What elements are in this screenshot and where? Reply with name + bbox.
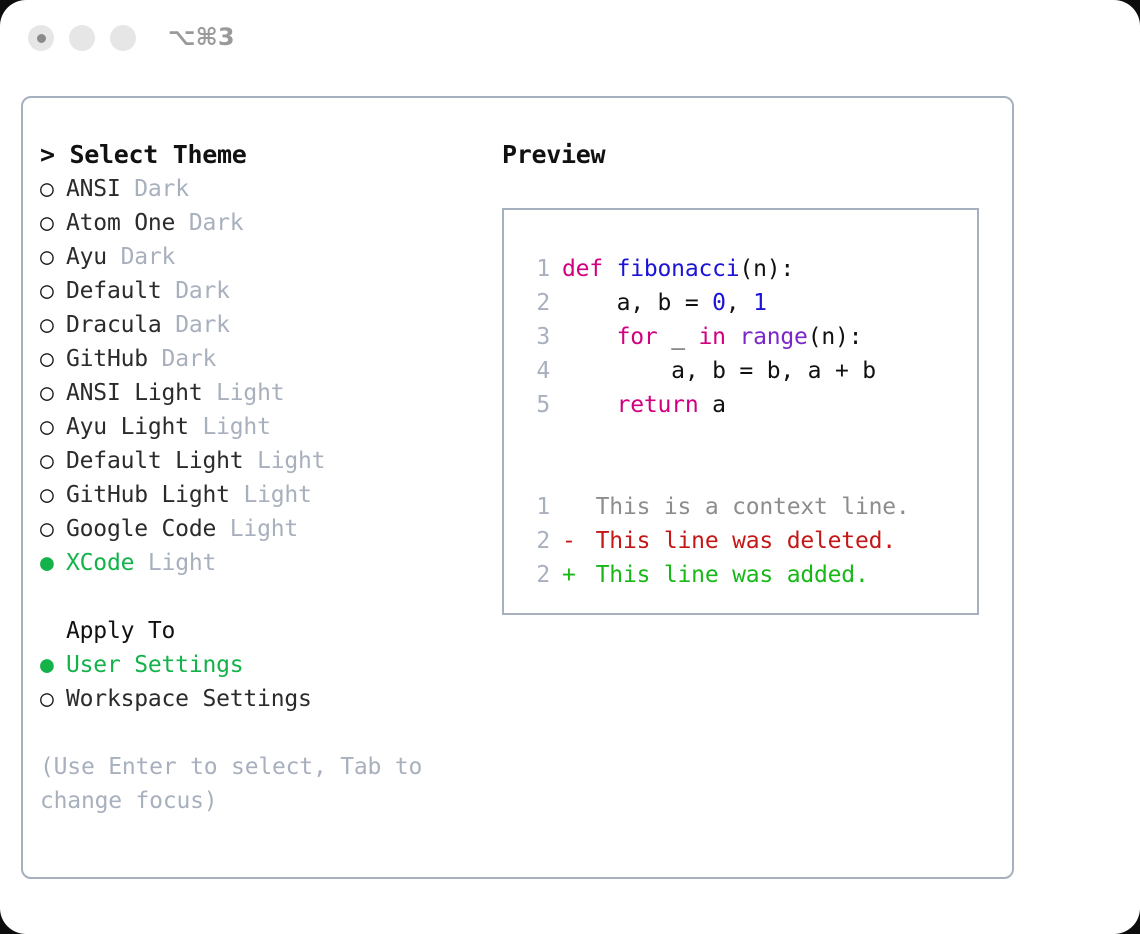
diff-marker-plus: + [562,558,582,592]
apply-to-label: Apply To [40,614,490,648]
code-token-plain [562,324,617,350]
preview-column: Preview 1def fibonacci(n): 2 a, b = 0, 1… [502,138,992,615]
theme-name: GitHub [66,346,148,372]
theme-list-item[interactable]: ○Default Light Light [40,444,490,478]
theme-variant: Light [216,380,284,406]
code-token-plain: (n): [739,256,794,282]
line-number: 5 [520,388,550,422]
theme-list-item[interactable]: ○Google Code Light [40,512,490,546]
theme-name: Dracula [66,312,162,338]
theme-list-item[interactable]: ○ANSI Light Light [40,376,490,410]
theme-variant: Dark [121,244,176,270]
theme-variant: Light [230,516,298,542]
window-minimize-dot[interactable] [69,25,95,51]
code-token-number: 1 [753,290,767,316]
theme-variant: Dark [175,278,230,304]
code-token-keyword: def [562,256,617,282]
code-line: 4 a, b = b, a + b [520,354,977,388]
keyboard-hint-text: (Use Enter to select, Tab to change focu… [40,750,450,818]
code-token-plain: a, b = b, a + b [562,358,876,384]
diff-text: This line was added. [582,562,869,588]
theme-variant: Light [202,414,270,440]
line-number: 4 [520,354,550,388]
code-token-plain: (n): [808,324,863,350]
theme-variant: Dark [162,346,217,372]
diff-marker-minus: - [562,524,582,558]
theme-name: Default [66,278,162,304]
code-token-call: range [739,324,807,350]
radio-icon: ○ [40,172,66,206]
theme-list-item[interactable]: ○Ayu Dark [40,240,490,274]
radio-icon: ○ [40,682,66,716]
code-token-plain [562,392,617,418]
window-close-dot[interactable] [28,25,54,51]
theme-list-item[interactable]: ○GitHub Light Light [40,478,490,512]
apply-to-option-label: Workspace Settings [66,686,312,712]
list-spacer [40,580,490,614]
diff-marker [562,490,582,524]
radio-icon: ○ [40,376,66,410]
code-token-plain [726,324,740,350]
window-maximize-dot[interactable] [110,25,136,51]
line-number: 2 [520,558,550,592]
apply-to-option-user[interactable]: ●User Settings [40,648,490,682]
theme-name: Ayu [66,244,107,270]
theme-list-item[interactable]: ○ANSI Dark [40,172,490,206]
code-line: 3 for _ in range(n): [520,320,977,354]
radio-icon: ○ [40,444,66,478]
theme-name: Default Light [66,448,243,474]
radio-icon: ○ [40,410,66,444]
diff-line-context: 1 This is a context line. [520,490,977,524]
code-token-keyword: in [699,324,726,350]
line-number: 2 [520,286,550,320]
code-token-keyword: for [617,324,658,350]
theme-list-item[interactable]: ○Dracula Dark [40,308,490,342]
theme-list-item-selected[interactable]: ●XCode Light [40,546,490,580]
main-panel: > Select Theme ○ANSI Dark ○Atom One Dark… [21,96,1014,879]
apply-to-text: Apply To [66,618,175,644]
line-number: 1 [520,490,550,524]
theme-variant: Dark [134,176,189,202]
diff-text: This line was deleted. [582,528,896,554]
code-token-plain: _ [658,324,699,350]
theme-list-item[interactable]: ○Ayu Light Light [40,410,490,444]
code-line: 5 return a [520,388,977,422]
theme-name: Google Code [66,516,216,542]
apply-to-option-workspace[interactable]: ○Workspace Settings [40,682,490,716]
theme-variant: Light [243,482,311,508]
diff-line-added: 2+ This line was added. [520,558,977,592]
theme-list-item[interactable]: ○GitHub Dark [40,342,490,376]
theme-name: ANSI Light [66,380,202,406]
radio-icon: ○ [40,342,66,376]
theme-name: Atom One [66,210,175,236]
radio-icon: ○ [40,512,66,546]
theme-variant: Light [148,550,216,576]
code-token-number: 0 [712,290,726,316]
radio-icon: ○ [40,240,66,274]
code-token-keyword: return [617,392,699,418]
preview-box: 1def fibonacci(n): 2 a, b = 0, 1 3 for _… [502,208,979,615]
theme-variant: Dark [189,210,244,236]
theme-list-item[interactable]: ○Atom One Dark [40,206,490,240]
code-token-function: fibonacci [617,256,740,282]
radio-icon: ○ [40,308,66,342]
keyboard-shortcut-label: ⌥⌘3 [168,23,235,51]
radio-icon-selected: ● [40,648,66,682]
active-indicator-dot [37,34,46,43]
theme-name: GitHub Light [66,482,230,508]
diff-line-deleted: 2- This line was deleted. [520,524,977,558]
apply-to-option-label: User Settings [66,652,243,678]
radio-icon: ○ [40,478,66,512]
radio-icon: ○ [40,274,66,308]
line-number: 3 [520,320,550,354]
traffic-lights [28,25,136,51]
app-window: ⌥⌘3 > Select Theme ○ANSI Dark ○Atom One … [0,0,1140,934]
theme-list-item[interactable]: ○Default Dark [40,274,490,308]
code-token-plain: , [726,290,753,316]
code-blank-line [520,456,977,490]
theme-picker-title: > Select Theme [40,138,490,172]
theme-name: XCode [66,550,134,576]
hint-spacer [40,716,490,750]
title-bar: ⌥⌘3 [0,0,1140,78]
code-token-plain: a [698,392,725,418]
theme-picker-column: > Select Theme ○ANSI Dark ○Atom One Dark… [40,138,490,818]
diff-text: This is a context line. [582,494,910,520]
preview-title: Preview [502,138,992,172]
theme-variant: Dark [175,312,230,338]
code-line: 2 a, b = 0, 1 [520,286,977,320]
code-token-plain: a, b = [562,290,712,316]
line-number: 2 [520,524,550,558]
theme-variant: Light [257,448,325,474]
theme-name: ANSI [66,176,121,202]
theme-name: Ayu Light [66,414,189,440]
radio-icon-selected: ● [40,546,66,580]
line-number: 1 [520,252,550,286]
code-blank-line [520,422,977,456]
radio-icon: ○ [40,206,66,240]
code-line: 1def fibonacci(n): [520,252,977,286]
